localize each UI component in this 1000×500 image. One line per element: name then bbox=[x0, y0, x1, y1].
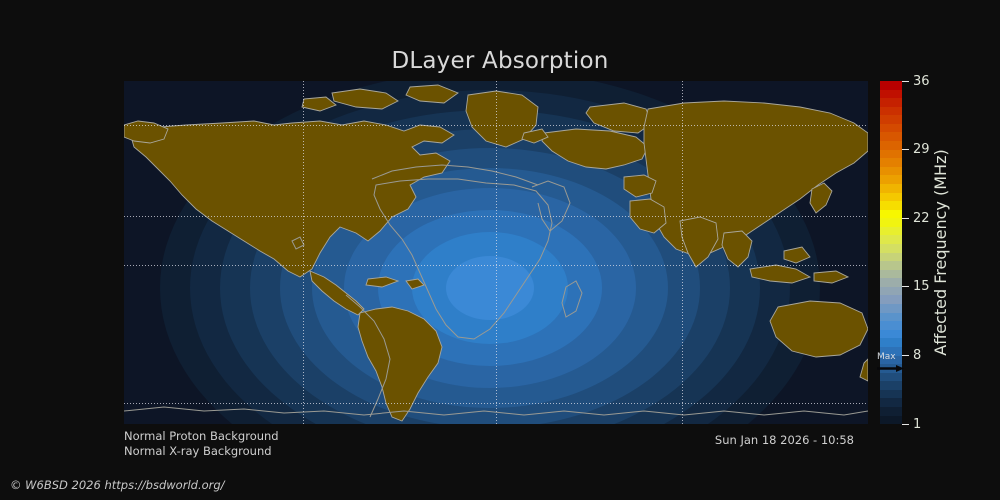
colorbar-step-14 bbox=[880, 201, 902, 210]
colorbar-step-7 bbox=[880, 141, 902, 150]
colorbar-step-24 bbox=[880, 287, 902, 296]
colorbar-step-37 bbox=[880, 398, 902, 407]
page-title: DLayer Absorption bbox=[0, 48, 1000, 74]
background-conditions: Normal Proton Background Normal X-ray Ba… bbox=[124, 429, 279, 459]
colorbar-step-25 bbox=[880, 295, 902, 304]
tick-mark bbox=[902, 218, 909, 219]
colorbar-step-0 bbox=[880, 81, 902, 90]
colorbar-step-9 bbox=[880, 158, 902, 167]
colorbar-step-5 bbox=[880, 124, 902, 133]
tick-mark bbox=[902, 81, 909, 82]
gridline-lat-60n bbox=[124, 125, 868, 126]
gridline-lat-60s bbox=[124, 403, 868, 404]
tick-mark bbox=[902, 424, 909, 425]
proton-background-note: Normal Proton Background bbox=[124, 429, 279, 444]
tick-label: 36 bbox=[913, 74, 930, 89]
gridline-lat-equator bbox=[124, 265, 868, 266]
colorbar-step-28 bbox=[880, 321, 902, 330]
colorbar-step-27 bbox=[880, 313, 902, 322]
colorbar-step-38 bbox=[880, 407, 902, 416]
map-gridlines bbox=[124, 81, 868, 424]
colorbar-step-29 bbox=[880, 330, 902, 339]
colorbar-step-19 bbox=[880, 244, 902, 253]
colorbar-step-32 bbox=[880, 356, 902, 365]
colorbar-step-23 bbox=[880, 278, 902, 287]
copyright-notice: © W6BSD 2026 https://bsdworld.org/ bbox=[10, 478, 225, 492]
tick-label: 1 bbox=[913, 417, 921, 432]
tick-label: 8 bbox=[913, 348, 921, 363]
tick-mark bbox=[902, 286, 909, 287]
gridline-lon-east bbox=[682, 81, 683, 424]
colorbar-step-18 bbox=[880, 235, 902, 244]
colorbar-step-11 bbox=[880, 175, 902, 184]
colorbar-step-2 bbox=[880, 98, 902, 107]
colorbar-step-31 bbox=[880, 347, 902, 356]
world-map[interactable] bbox=[124, 81, 868, 424]
colorbar-step-26 bbox=[880, 304, 902, 313]
colorbar-step-4 bbox=[880, 115, 902, 124]
colorbar-step-22 bbox=[880, 270, 902, 279]
colorbar-step-13 bbox=[880, 193, 902, 202]
colorbar-step-8 bbox=[880, 150, 902, 159]
tick-label: 15 bbox=[913, 279, 930, 294]
gridline-lon-west bbox=[303, 81, 304, 424]
colorbar-step-6 bbox=[880, 132, 902, 141]
colorbar-step-20 bbox=[880, 253, 902, 262]
colorbar-step-12 bbox=[880, 184, 902, 193]
colorbar-step-39 bbox=[880, 416, 902, 425]
gridline-lon-prime bbox=[496, 81, 497, 424]
colorbar-gradient bbox=[880, 81, 902, 424]
timestamp: Sun Jan 18 2026 - 10:58 bbox=[715, 433, 854, 447]
tick-mark bbox=[902, 149, 909, 150]
colorbar-step-36 bbox=[880, 390, 902, 399]
colorbar[interactable]: 1815222936 bbox=[880, 81, 902, 424]
colorbar-step-15 bbox=[880, 210, 902, 219]
gridline-lat-30n bbox=[124, 216, 868, 217]
colorbar-step-30 bbox=[880, 338, 902, 347]
colorbar-step-1 bbox=[880, 90, 902, 99]
dlayer-absorption-page: DLayer Absorption bbox=[0, 0, 1000, 500]
tick-label: 22 bbox=[913, 211, 930, 226]
colorbar-step-3 bbox=[880, 107, 902, 116]
colorbar-step-35 bbox=[880, 381, 902, 390]
colorbar-axis-label: Affected Frequency (MHz) bbox=[930, 81, 952, 424]
xray-background-note: Normal X-ray Background bbox=[124, 444, 279, 459]
colorbar-step-34 bbox=[880, 373, 902, 382]
colorbar-step-33 bbox=[880, 364, 902, 373]
colorbar-step-16 bbox=[880, 218, 902, 227]
tick-label: 29 bbox=[913, 142, 930, 157]
colorbar-step-21 bbox=[880, 261, 902, 270]
colorbar-step-17 bbox=[880, 227, 902, 236]
tick-mark bbox=[902, 355, 909, 356]
colorbar-step-10 bbox=[880, 167, 902, 176]
